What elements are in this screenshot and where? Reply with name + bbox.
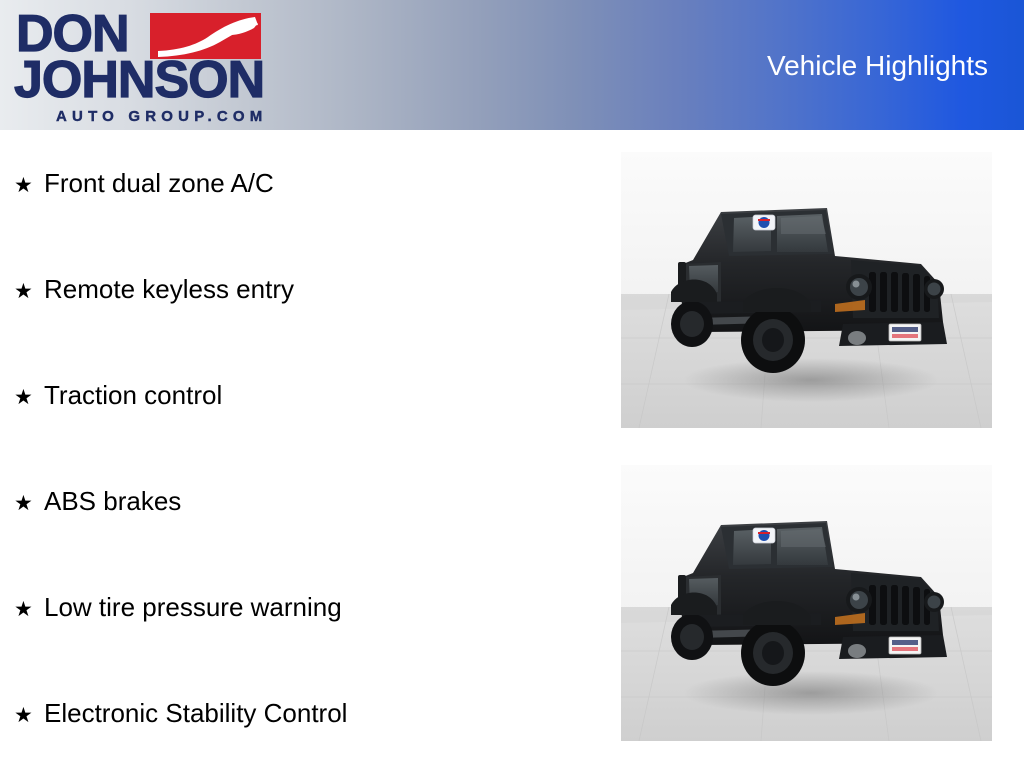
dealer-logo: DON JOHNSON AUTO GROUP.COM	[14, 6, 264, 128]
star-bullet-icon: ★	[14, 493, 44, 514]
vehicle-photo[interactable]	[621, 465, 992, 741]
logo-tagline: AUTO GROUP.COM	[56, 108, 267, 125]
list-item-label: Remote keyless entry	[44, 276, 294, 302]
logo-red-badge	[150, 13, 261, 59]
star-bullet-icon: ★	[14, 705, 44, 726]
star-bullet-icon: ★	[14, 281, 44, 302]
list-item-label: ABS brakes	[44, 488, 181, 514]
list-item-label: Traction control	[44, 382, 222, 408]
swoosh-icon	[150, 13, 261, 59]
list-item-label: Front dual zone A/C	[44, 170, 274, 196]
list-item: ★ Front dual zone A/C	[14, 170, 274, 196]
vehicle-image-svg	[621, 152, 992, 428]
vehicle-photo[interactable]	[621, 152, 992, 428]
dealer-license-plate	[889, 637, 921, 654]
vehicle-highlights-list: ★ Front dual zone A/C ★ Remote keyless e…	[0, 130, 600, 768]
list-item: ★ ABS brakes	[14, 488, 181, 514]
vehicle-image-svg	[621, 465, 992, 741]
list-item: ★ Low tire pressure warning	[14, 594, 342, 620]
star-bullet-icon: ★	[14, 175, 44, 196]
star-bullet-icon: ★	[14, 599, 44, 620]
page-title: Vehicle Highlights	[767, 50, 988, 82]
list-item-label: Low tire pressure warning	[44, 594, 342, 620]
list-item: ★ Electronic Stability Control	[14, 700, 347, 726]
dealer-license-plate	[889, 324, 921, 341]
logo-text-johnson: JOHNSON	[14, 54, 264, 106]
list-item-label: Electronic Stability Control	[44, 700, 347, 726]
page-header: DON JOHNSON AUTO GROUP.COM Vehicle Highl…	[0, 0, 1024, 130]
list-item: ★ Remote keyless entry	[14, 276, 294, 302]
star-bullet-icon: ★	[14, 387, 44, 408]
list-item: ★ Traction control	[14, 382, 222, 408]
